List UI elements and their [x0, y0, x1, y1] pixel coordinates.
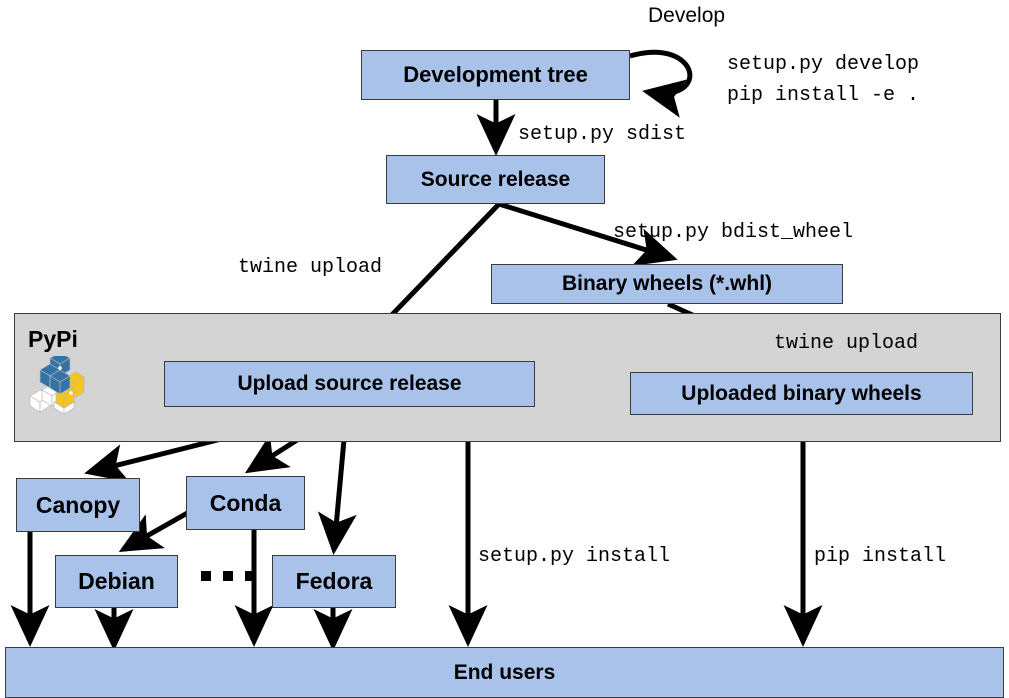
node-uploaded-binary-wheels[interactable]: Uploaded binary wheels — [630, 372, 973, 415]
node-canopy[interactable]: Canopy — [16, 478, 140, 532]
label-bdist-wheel: setup.py bdist_wheel — [613, 221, 853, 244]
node-source-release[interactable]: Source release — [386, 155, 605, 204]
ellipsis-dot — [223, 571, 233, 581]
node-upload-source-release[interactable]: Upload source release — [164, 361, 535, 407]
label-setup-sdist: setup.py sdist — [518, 123, 686, 146]
label-twine-upload-source: twine upload — [238, 256, 382, 279]
node-end-users[interactable]: End users — [5, 647, 1004, 698]
node-development-tree[interactable]: Development tree — [361, 50, 630, 100]
pypi-group-title: PyPi — [28, 326, 78, 353]
label-setup-install: setup.py install — [478, 545, 670, 568]
pypi-python-cubes-logo — [26, 356, 88, 414]
edge-develop-self-loop — [630, 52, 690, 93]
diagram-canvas: PyPi — [0, 0, 1009, 698]
ellipsis-dot — [245, 571, 255, 581]
node-debian[interactable]: Debian — [55, 555, 178, 608]
label-develop: Develop — [648, 4, 725, 28]
label-pip-install: pip install — [814, 545, 946, 568]
node-binary-wheels[interactable]: Binary wheels (*.whl) — [491, 264, 843, 304]
label-pip-install-e: pip install -e . — [727, 84, 919, 107]
ellipsis-dot — [201, 571, 211, 581]
ellipsis-dots — [201, 571, 255, 581]
label-setup-develop: setup.py develop — [727, 53, 919, 76]
node-conda[interactable]: Conda — [186, 476, 305, 530]
label-twine-upload-wheels: twine upload — [774, 332, 918, 355]
node-fedora[interactable]: Fedora — [272, 555, 396, 608]
